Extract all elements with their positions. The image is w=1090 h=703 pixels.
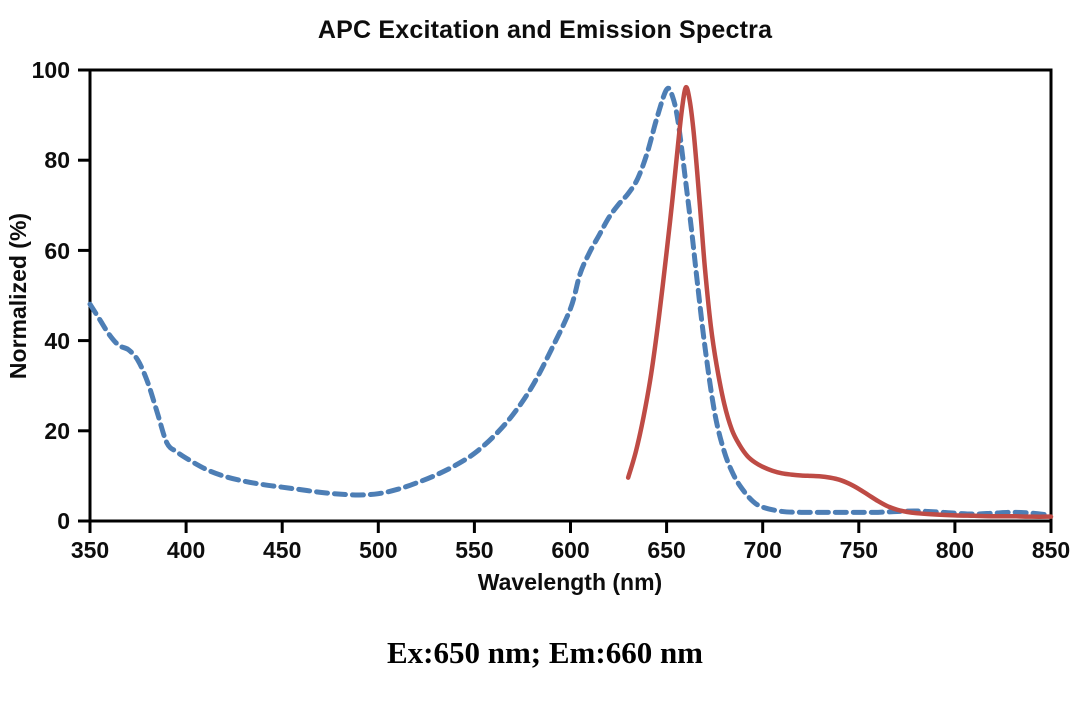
x-tick-label-800: 800 (936, 537, 974, 563)
x-tick-label-450: 450 (263, 537, 301, 563)
chart-caption: Ex:650 nm; Em:660 nm (0, 635, 1090, 671)
y-axis-title: Normalized (%) (5, 213, 31, 379)
y-tick-label-20: 20 (44, 418, 70, 444)
y-tick-label-0: 0 (57, 508, 70, 534)
x-axis: 350 400 450 500 550 600 650 700 750 800 … (71, 521, 1070, 563)
spectra-plot: 0 20 40 60 80 100 Normalized (%) (0, 0, 1090, 703)
x-tick-label-700: 700 (744, 537, 782, 563)
y-tick-label-60: 60 (44, 238, 70, 264)
y-tick-label-100: 100 (32, 57, 70, 83)
x-tick-label-500: 500 (359, 537, 397, 563)
emission-spectrum-line (628, 87, 1051, 517)
y-axis: 0 20 40 60 80 100 (32, 57, 90, 534)
x-tick-label-550: 550 (455, 537, 493, 563)
x-tick-label-650: 650 (647, 537, 685, 563)
plot-frame (90, 70, 1051, 521)
x-tick-label-400: 400 (167, 537, 205, 563)
x-axis-title: Wavelength (nm) (478, 569, 662, 595)
x-tick-label-600: 600 (551, 537, 589, 563)
y-tick-label-80: 80 (44, 147, 70, 173)
x-tick-label-850: 850 (1032, 537, 1070, 563)
x-tick-label-350: 350 (71, 537, 109, 563)
excitation-spectrum-line (90, 88, 1051, 515)
chart-figure: APC Excitation and Emission Spectra 0 20… (0, 0, 1090, 703)
y-tick-label-40: 40 (44, 328, 70, 354)
y-tick-group (78, 70, 90, 521)
x-tick-group (90, 521, 1051, 533)
x-tick-label-750: 750 (840, 537, 878, 563)
